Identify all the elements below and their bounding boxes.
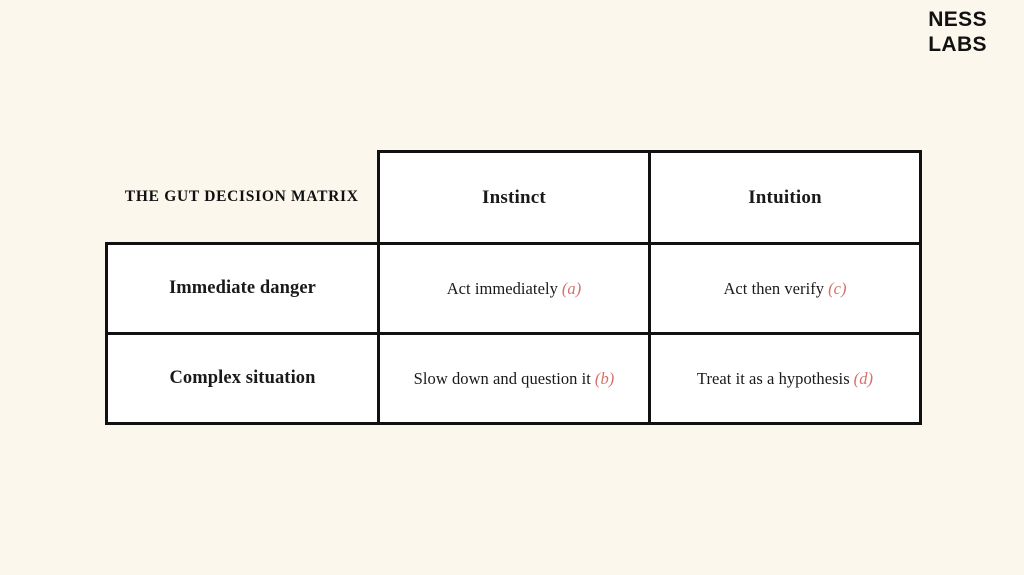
matrix-title: THE GUT DECISION MATRIX bbox=[107, 152, 379, 244]
row-header-complex-situation: Complex situation bbox=[107, 334, 379, 424]
cell-tag: (b) bbox=[595, 369, 614, 388]
brand-logo-line-2: LABS bbox=[928, 33, 987, 58]
matrix-header-row: THE GUT DECISION MATRIX Instinct Intuiti… bbox=[107, 152, 921, 244]
cell-text: Act then verify bbox=[723, 279, 824, 298]
cell-tag: (c) bbox=[828, 279, 846, 298]
cell-tag: (a) bbox=[562, 279, 581, 298]
matrix-table: THE GUT DECISION MATRIX Instinct Intuiti… bbox=[105, 150, 922, 425]
cell-tag: (d) bbox=[854, 369, 873, 388]
table-row: Complex situation Slow down and question… bbox=[107, 334, 921, 424]
cell-text: Slow down and question it bbox=[414, 369, 591, 388]
gut-decision-matrix: THE GUT DECISION MATRIX Instinct Intuiti… bbox=[105, 150, 919, 422]
row-header-immediate-danger: Immediate danger bbox=[107, 244, 379, 334]
cell-immediate-danger-intuition: Act then verify(c) bbox=[650, 244, 921, 334]
brand-logo: NESS LABS bbox=[928, 8, 987, 58]
cell-complex-situation-intuition: Treat it as a hypothesis(d) bbox=[650, 334, 921, 424]
cell-text: Act immediately bbox=[447, 279, 558, 298]
cell-immediate-danger-instinct: Act immediately(a) bbox=[379, 244, 650, 334]
cell-complex-situation-instinct: Slow down and question it(b) bbox=[379, 334, 650, 424]
brand-logo-line-1: NESS bbox=[928, 8, 987, 33]
cell-text: Treat it as a hypothesis bbox=[697, 369, 850, 388]
table-row: Immediate danger Act immediately(a) Act … bbox=[107, 244, 921, 334]
column-header-intuition: Intuition bbox=[650, 152, 921, 244]
column-header-instinct: Instinct bbox=[379, 152, 650, 244]
